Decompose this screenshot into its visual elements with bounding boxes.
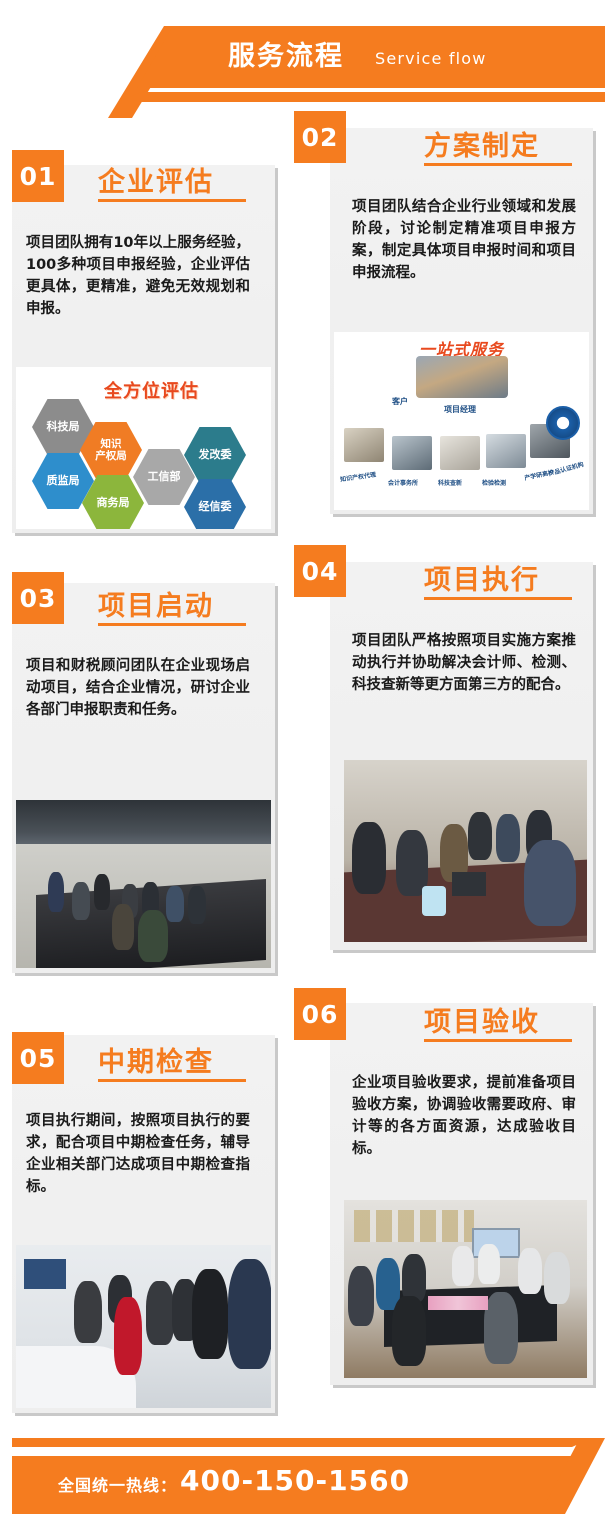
photo-person <box>192 1269 228 1359</box>
step-title-rule-06 <box>424 1039 572 1042</box>
photo-content <box>16 800 271 968</box>
step-title-rule-03 <box>98 623 246 626</box>
step-title-02: 方案制定 <box>424 124 540 163</box>
photo-monitor <box>24 1259 66 1289</box>
hexagon-node-label: 工信部 <box>148 471 181 483</box>
infographic-page: 服务流程 Service flow 01 企业评估 项目团队拥有10年以上服务经… <box>0 0 605 1538</box>
working-session-photo <box>344 760 587 942</box>
step-title-05: 中期检查 <box>98 1040 214 1079</box>
photo-person <box>544 1252 570 1304</box>
step-title-rule-01 <box>98 199 246 202</box>
photo-person <box>452 1246 474 1286</box>
step-badge-04: 04 <box>294 545 346 597</box>
step-body-04: 项目团队严格按照项目实施方案推动执行并协助解决会计师、检测、科技查新等更方面第三… <box>352 630 576 696</box>
oss-node-caption: 科技查新 <box>438 478 462 487</box>
photo-person <box>402 1254 426 1302</box>
hexagon-node-label: 知识产权局 <box>95 438 127 462</box>
hexagon-node-label: 发改委 <box>199 449 232 461</box>
photo-person <box>166 886 184 922</box>
step-title-rule-02 <box>424 163 572 166</box>
step-body-03: 项目和财税顾问团队在企业现场启动项目，结合企业情况，研讨企业各部门申报职责和任务… <box>26 655 250 721</box>
oss-certification-seal-icon <box>546 406 580 440</box>
oss-node-caption: 检验检测 <box>482 478 506 487</box>
oss-node-caption: 会计事务所 <box>388 478 418 487</box>
photo-person <box>524 840 576 926</box>
hexagon-node-label: 经信委 <box>199 501 232 513</box>
photo-person <box>146 1281 174 1345</box>
photo-person <box>114 1297 142 1375</box>
hexagon-node-jingxinwei: 经信委 <box>184 479 246 529</box>
step-badge-01: 01 <box>12 150 64 202</box>
step-body-01: 项目团队拥有10年以上服务经验，100多种项目申报经验，企业评估更具体，更精准，… <box>26 232 250 320</box>
photo-person <box>468 812 492 860</box>
one-stop-service-graphic: 一站式服务 客户 项目经理 知识产权代理 会计事务所 科技查新 检验检测 产学研… <box>334 332 589 510</box>
oss-node-caption: 产品认证机构 <box>547 459 584 478</box>
hotline-label: 全国统一热线： <box>58 1472 177 1496</box>
photo-person <box>74 1281 102 1343</box>
hotline-number[interactable]: 400-150-1560 <box>180 1464 410 1497</box>
step-body-02: 项目团队结合企业行业领域和发展阶段，讨论制定精准项目申报方案，制定具体项目申报时… <box>352 196 576 284</box>
photo-person <box>392 1296 426 1366</box>
step-title-03: 项目启动 <box>98 584 214 623</box>
hexagon-node-label: 科技局 <box>47 421 80 433</box>
photo-person <box>48 872 64 912</box>
step-badge-03: 03 <box>12 572 64 624</box>
photo-flowers <box>428 1296 488 1310</box>
photo-person <box>72 882 90 920</box>
photo-bag <box>422 886 446 916</box>
step-title-04: 项目执行 <box>424 558 540 597</box>
photo-person <box>138 910 168 962</box>
assessment-hexagon-graphic: 全方位评估 科技局 知识产权局 发改委 质监局 工信部 商务局 经信委 <box>16 367 271 529</box>
step-title-06: 项目验收 <box>424 1000 540 1039</box>
photo-person <box>112 904 134 950</box>
photo-person <box>496 814 520 862</box>
oss-client-label: 客户 <box>392 396 408 407</box>
oss-node-photo <box>392 436 432 470</box>
step-body-06: 企业项目验收要求，提前准备项目验收方案，协调验收需要政府、审计等的各方面资源，达… <box>352 1072 576 1160</box>
hexagon-graphic-title: 全方位评估 <box>104 377 199 403</box>
step-badge-06: 06 <box>294 988 346 1040</box>
page-subtitle: Service flow <box>375 44 487 74</box>
showroom-visit-photo <box>16 1245 271 1408</box>
oss-node-photo <box>440 436 480 470</box>
step-badge-02: 02 <box>294 111 346 163</box>
photo-person <box>188 886 206 924</box>
photo-laptop <box>452 872 486 896</box>
meeting-room-photo <box>16 800 271 968</box>
step-title-rule-04 <box>424 597 572 600</box>
step-badge-05: 05 <box>12 1032 64 1084</box>
photo-person <box>94 874 110 910</box>
photo-person <box>228 1259 271 1369</box>
photo-person <box>478 1244 500 1284</box>
header-stripe <box>118 92 605 102</box>
photo-content <box>344 1200 587 1378</box>
photo-content <box>16 1245 271 1408</box>
photo-certificates <box>354 1210 474 1242</box>
hexagon-node-label: 商务局 <box>97 497 130 509</box>
page-header: 服务流程 Service flow <box>0 0 605 118</box>
oss-node-photo <box>344 428 384 462</box>
photo-person <box>484 1292 518 1364</box>
page-title: 服务流程 <box>228 34 344 80</box>
photo-person <box>352 822 386 894</box>
oss-center-photo <box>416 356 508 398</box>
hexagon-node-label: 质监局 <box>47 475 80 487</box>
photo-content <box>344 760 587 942</box>
footer-stripe <box>12 1438 592 1447</box>
step-title-rule-05 <box>98 1079 246 1082</box>
oss-node-caption: 知识产权代理 <box>340 470 377 484</box>
photo-person <box>348 1266 374 1326</box>
acceptance-meeting-photo <box>344 1200 587 1378</box>
step-title-01: 企业评估 <box>98 160 214 199</box>
header-banner <box>137 26 605 88</box>
step-body-05: 项目执行期间，按照项目执行的要求，配合项目中期检查任务，辅导企业相关部门达成项目… <box>26 1110 250 1198</box>
oss-manager-label: 项目经理 <box>444 404 476 415</box>
oss-node-photo <box>486 434 526 468</box>
photo-person <box>518 1248 542 1294</box>
